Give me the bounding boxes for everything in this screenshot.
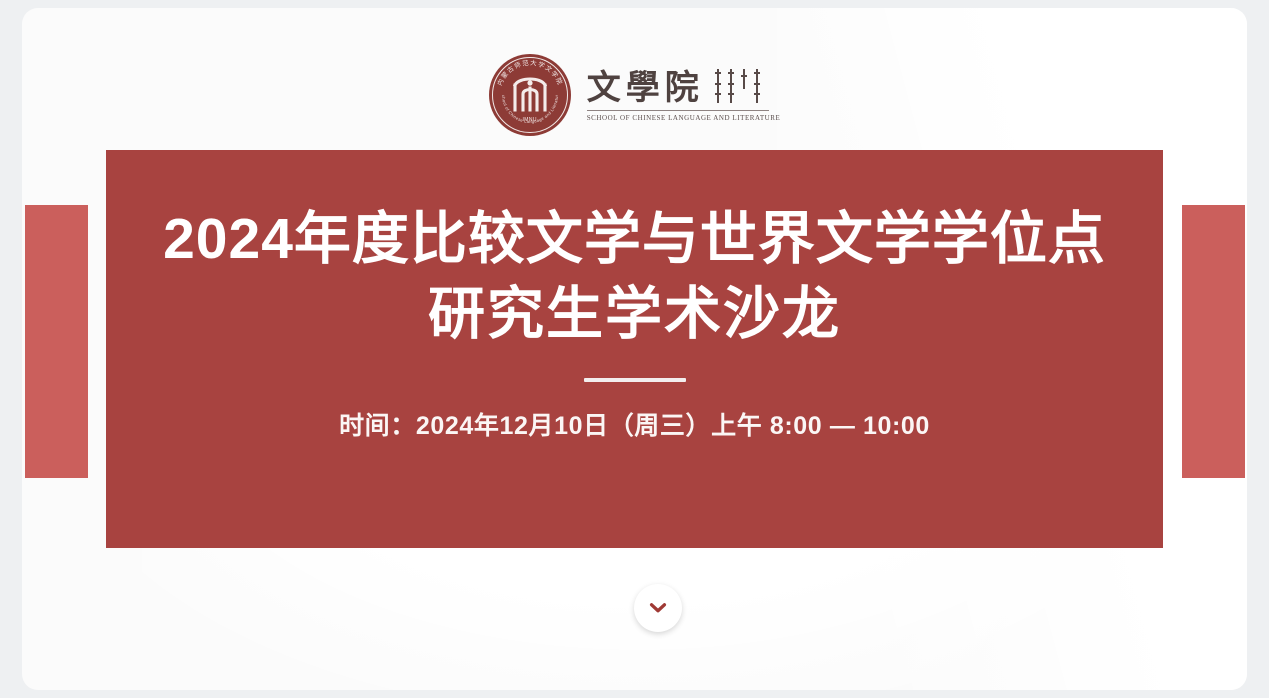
- title-divider: [584, 378, 686, 382]
- presentation-slide: 内蒙古师范大学文学院 School of Chinese Language an…: [0, 0, 1269, 698]
- wordmark-glyph-row: 文學院: [587, 69, 760, 105]
- wordmark-english-name: SCHOOL OF CHINESE LANGUAGE AND LITERATUR…: [587, 114, 781, 122]
- page-title-line-1: 2024年度比较文学与世界文学学位点: [163, 202, 1106, 277]
- page-title-line-2: 研究生学术沙龙: [428, 277, 841, 352]
- university-seal-icon: 内蒙古师范大学文学院 School of Chinese Language an…: [489, 54, 571, 136]
- wordmark-mongolian-script: [715, 69, 760, 105]
- school-wordmark: 文學院 SCHOOL OF CHINESE LANGUAGE AND LITER…: [587, 69, 781, 122]
- accent-bar-right: [1182, 205, 1245, 478]
- event-time-text: 时间：2024年12月10日（周三）上午 8:00 — 10:00: [339, 406, 930, 442]
- wordmark-divider: [587, 110, 769, 111]
- scroll-down-button[interactable]: [634, 584, 682, 632]
- chevron-down-icon: [647, 597, 669, 619]
- slide-card: 内蒙古师范大学文学院 School of Chinese Language an…: [22, 8, 1247, 690]
- accent-bar-left: [25, 205, 88, 478]
- school-logo-lockup: 内蒙古师范大学文学院 School of Chinese Language an…: [22, 54, 1247, 136]
- wordmark-cjk-seal-script: 文學院: [587, 71, 704, 105]
- seal-emblem-icon: [509, 72, 551, 114]
- seal-abbreviation: IMNU: [489, 117, 571, 123]
- title-banner: 2024年度比较文学与世界文学学位点 研究生学术沙龙 时间：2024年12月10…: [106, 150, 1163, 548]
